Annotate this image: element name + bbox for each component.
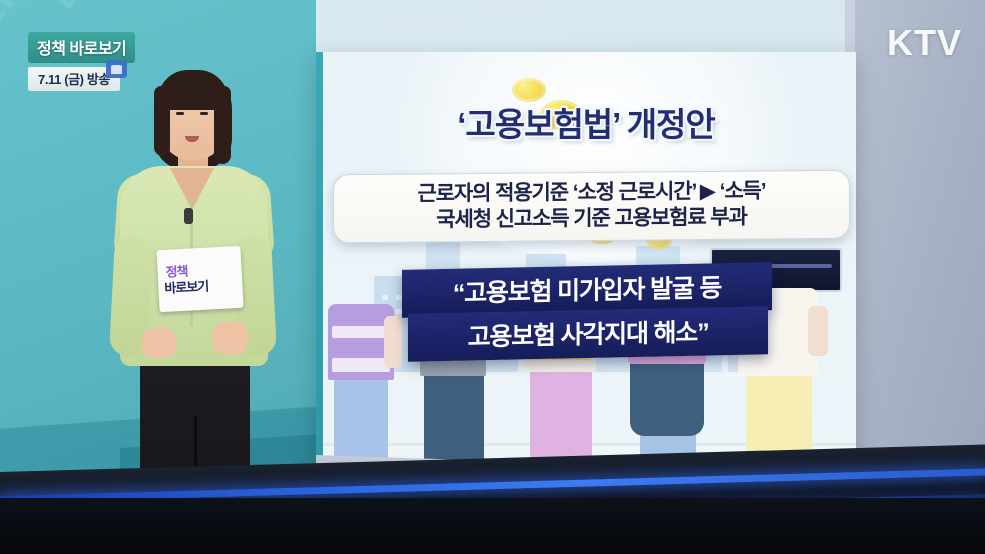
presenter-hand-right bbox=[212, 322, 248, 354]
quote-banner-2: 고용보험 사각지대 해소” bbox=[408, 306, 768, 362]
info-box-line-1: 근로자의 적용기준 ‘소정 근로시간’ ▶ ‘소득’ bbox=[344, 178, 839, 208]
program-title-badge: 정책 바로보기 bbox=[28, 32, 135, 63]
presenter-eye-right bbox=[200, 112, 208, 115]
studio-floor-foreground bbox=[0, 498, 985, 554]
presenter-hair-right bbox=[214, 86, 231, 164]
broadcast-frame: LIVE KOREA LIVE bbox=[0, 0, 985, 554]
info-box-line-2: 국세청 신고소득 기준 고용보험료 부과 bbox=[344, 203, 839, 233]
graphic-info-box: 근로자의 적용기준 ‘소정 근로시간’ ▶ ‘소득’ 국세청 신고소득 기준 고… bbox=[333, 170, 850, 244]
lapel-microphone-icon bbox=[184, 208, 193, 224]
presenter-hand-left bbox=[142, 328, 176, 358]
graphic-title: ‘고용보험법’ 개정안 bbox=[316, 98, 856, 146]
presenter-hair-left bbox=[154, 86, 170, 156]
station-bug-icon bbox=[106, 60, 127, 78]
channel-logo: KTV bbox=[887, 22, 962, 64]
presenter-eye-left bbox=[176, 112, 184, 115]
cue-card-line-2: 바로보기 bbox=[164, 276, 209, 297]
presenter-cue-card: 정책 바로보기 bbox=[156, 246, 243, 312]
